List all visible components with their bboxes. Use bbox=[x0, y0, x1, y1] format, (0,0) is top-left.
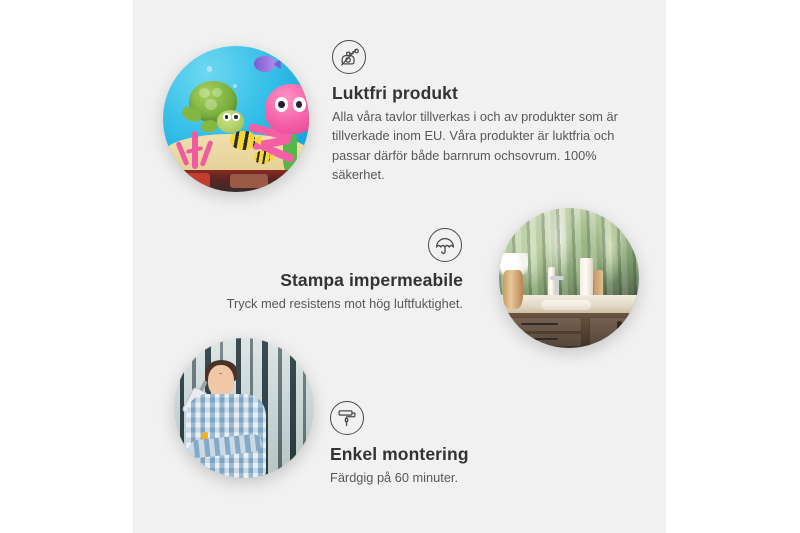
bathroom-illustration bbox=[499, 208, 639, 348]
octopus-icon bbox=[251, 84, 309, 160]
feature-description: Tryck med resistens mot hög luftfuktighe… bbox=[200, 294, 463, 313]
product-image-woman-with-roller-forest-mural bbox=[174, 338, 314, 478]
umbrella-icon bbox=[428, 228, 462, 262]
feature-description: Alla våra tavlor tillverkas i och av pro… bbox=[332, 107, 624, 185]
underwater-illustration bbox=[163, 46, 309, 192]
sink-basin bbox=[541, 300, 591, 310]
feature-block-easy-install: Enkel montering Färdgig på 60 minuter. bbox=[330, 401, 610, 487]
drawer-handle bbox=[521, 338, 557, 340]
yellow-fish-icon bbox=[230, 131, 255, 150]
octopus-eye bbox=[275, 97, 289, 112]
octopus-head bbox=[265, 84, 309, 134]
room-foreground-strip bbox=[163, 170, 309, 192]
smile bbox=[219, 373, 222, 374]
drawer-handle bbox=[521, 323, 557, 325]
yellow-fish-icon bbox=[254, 151, 270, 164]
paint-roller-icon bbox=[330, 401, 364, 435]
forest-installer-illustration bbox=[174, 338, 314, 478]
product-image-bathroom-leaf-wallpaper bbox=[499, 208, 639, 348]
octopus-eye bbox=[293, 97, 307, 112]
feature-block-odourless: Luktfri produkt Alla våra tavlor tillver… bbox=[332, 40, 624, 185]
infographic-canvas: Luktfri produkt Alla våra tavlor tillver… bbox=[0, 0, 800, 533]
feature-description: Färdgig på 60 minuter. bbox=[330, 468, 610, 487]
face bbox=[208, 365, 234, 398]
turtle-eye bbox=[232, 113, 240, 121]
product-image-underwater-cartoon-mural bbox=[163, 46, 309, 192]
feature-title: Luktfri produkt bbox=[332, 83, 624, 104]
woman-figure bbox=[182, 358, 269, 478]
no-odour-perfume-icon bbox=[332, 40, 366, 74]
turtle-head bbox=[217, 110, 244, 132]
vase bbox=[503, 270, 523, 309]
feature-block-waterproof: Stampa impermeabile Tryck med resistens … bbox=[200, 228, 463, 313]
wooden-vanity bbox=[499, 313, 639, 348]
turtle-eye bbox=[223, 113, 231, 121]
drawer-handle bbox=[617, 321, 623, 341]
toiletry-bottle bbox=[548, 267, 555, 298]
purple-fish-icon bbox=[254, 56, 276, 72]
bubble-icon bbox=[207, 66, 212, 71]
feature-title: Enkel montering bbox=[330, 444, 610, 465]
sea-turtle-icon bbox=[181, 81, 248, 134]
feature-title: Stampa impermeabile bbox=[200, 270, 463, 291]
